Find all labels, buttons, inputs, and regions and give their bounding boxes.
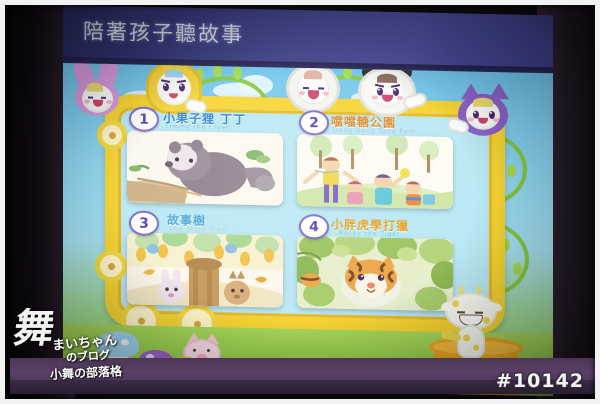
sheep-eye (303, 84, 309, 89)
book-subtitle-1: Timmy the Civet (165, 123, 230, 131)
book-subtitle-4: Rocky the Tiger (339, 230, 400, 238)
book-card-4[interactable] (297, 236, 453, 311)
giraffe-eye (475, 309, 483, 314)
lion-eye (163, 83, 169, 91)
book-badge-3: 3 (129, 210, 159, 236)
leaf (213, 64, 222, 77)
rabbit-hair (87, 83, 103, 92)
photo-number-tag: #10142 (496, 370, 584, 392)
panda-cheek (397, 96, 403, 100)
lion-eye (179, 83, 185, 91)
leaf (233, 67, 242, 80)
leaf (513, 262, 522, 275)
rabbit-mascot (73, 63, 127, 116)
book-card-2[interactable] (297, 134, 453, 209)
book-badge-2: 2 (299, 110, 329, 136)
rabbit-eye (88, 94, 93, 99)
cat-bangs (473, 98, 493, 107)
book-subtitle-3: The Story Tree (169, 225, 226, 233)
sheep-cheek (323, 91, 329, 95)
civet-illustration (127, 130, 283, 205)
book-card-3[interactable] (127, 232, 283, 307)
panda-bangs (377, 74, 397, 83)
leaf (507, 164, 516, 177)
swirl-decoration (95, 250, 127, 283)
cat-mascot (455, 81, 515, 144)
swirl-decoration (97, 120, 127, 151)
blog-watermark: 舞 まいちゃん のブログ 小舞の部落格 (14, 312, 194, 382)
book-badge-1: 1 (129, 106, 159, 132)
rabbit-cheek (84, 99, 90, 103)
giraffe-spot (463, 334, 470, 341)
book-card-1[interactable] (127, 130, 283, 205)
children-park-illustration (297, 134, 453, 209)
tiger-cub-illustration (297, 236, 453, 311)
slide-title: 陪著孩子聽故事 (83, 15, 244, 48)
cat-cheek (493, 118, 499, 122)
rabbit-eye (101, 94, 106, 99)
giraffe-spot (473, 345, 479, 351)
watermark-line-3: 小舞の部落格 (50, 362, 123, 383)
lion-bangs (165, 69, 183, 77)
rabbit-cheek (106, 100, 112, 104)
book-badge-4: 4 (299, 214, 329, 240)
story-tree-illustration (127, 232, 283, 307)
giraffe-eye (457, 308, 465, 313)
panda-eye (393, 88, 399, 96)
sheep-eye (318, 84, 324, 89)
pig-eye (207, 349, 210, 352)
photograph: 陪著孩子聽故事 (0, 0, 600, 404)
giraffe-arm (440, 330, 461, 342)
giraffe-spot (452, 300, 459, 307)
sheep-cheek (299, 91, 305, 95)
giraffe-body (459, 326, 483, 357)
sheep-bangs (304, 70, 322, 79)
cat-cheek (468, 117, 474, 121)
panda-cheek (372, 95, 378, 99)
giraffe-mascot (443, 286, 501, 359)
giraffe-spot (483, 317, 490, 324)
